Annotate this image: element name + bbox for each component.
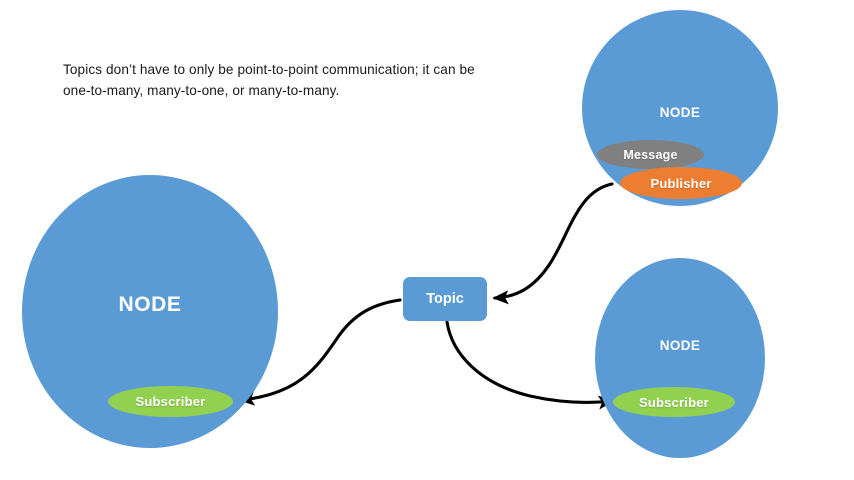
subscriber-ellipse-right[interactable]: Subscriber <box>613 387 735 417</box>
diagram-canvas: Topics don’t have to only be point-to-po… <box>0 0 854 480</box>
publisher-ellipse[interactable]: Publisher <box>620 167 742 199</box>
node-label: NODE <box>22 293 278 317</box>
subscriber-ellipse-left[interactable]: Subscriber <box>108 386 233 417</box>
message-ellipse[interactable]: Message <box>597 140 704 169</box>
arrow-publisher-to-topic <box>495 184 612 298</box>
node-label: NODE <box>595 338 765 353</box>
caption-text: Topics don’t have to only be point-to-po… <box>63 59 483 101</box>
arrow-topic-to-subscriber-right <box>447 322 612 402</box>
topic-box[interactable]: Topic <box>403 277 487 321</box>
node-circle-subscriber-right[interactable]: NODE <box>595 258 765 458</box>
node-label: NODE <box>582 105 778 120</box>
